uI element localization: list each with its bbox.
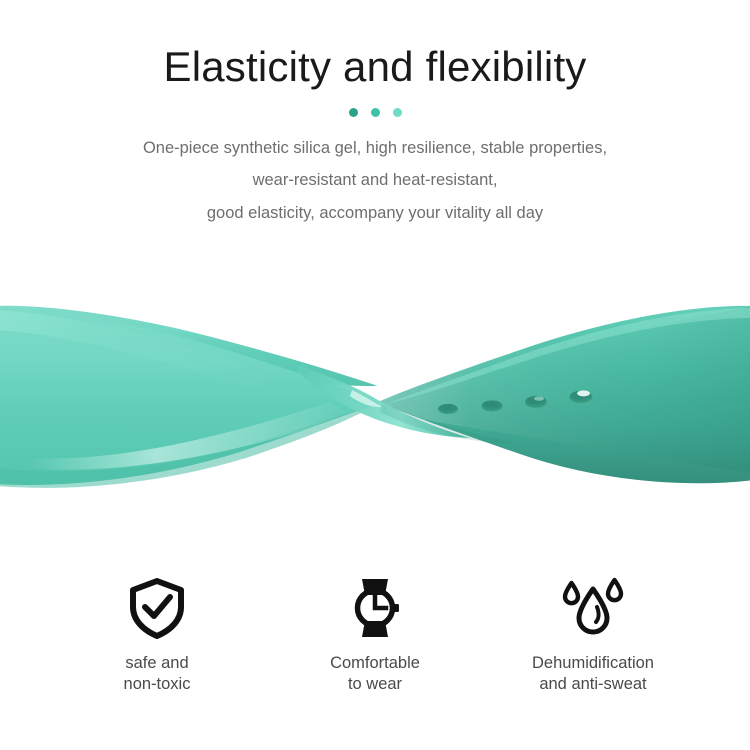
band-hole-1 bbox=[438, 404, 458, 414]
header-section: Elasticity and flexibility One-piece syn… bbox=[0, 0, 750, 229]
subtitle-line-2: wear-resistant and heat-resistant, bbox=[0, 164, 750, 196]
dot-dark bbox=[349, 108, 358, 117]
page-title: Elasticity and flexibility bbox=[0, 44, 750, 90]
product-feature-page: Elasticity and flexibility One-piece syn… bbox=[0, 0, 750, 750]
features-section: safe and non-toxic Comfortable to we bbox=[0, 575, 750, 705]
band-hole-3 bbox=[525, 396, 547, 408]
feature-comfortable-to-wear: Comfortable to wear bbox=[266, 575, 484, 694]
subtitle-line-1: One-piece synthetic silica gel, high res… bbox=[0, 132, 750, 164]
feature-dehumidification: Dehumidification and anti-sweat bbox=[484, 575, 702, 694]
band-hole-2 bbox=[482, 400, 503, 411]
dot-mid bbox=[371, 108, 380, 117]
dot-light bbox=[393, 108, 402, 117]
subtitle-block: One-piece synthetic silica gel, high res… bbox=[0, 132, 750, 229]
feature-safe-non-toxic: safe and non-toxic bbox=[48, 575, 266, 694]
feature-label-dehumidification: Dehumidification and anti-sweat bbox=[532, 653, 654, 694]
feature-label-comfortable-to-wear: Comfortable to wear bbox=[330, 653, 420, 694]
shield-check-icon bbox=[125, 575, 189, 641]
wristwatch-icon bbox=[343, 575, 407, 641]
water-droplets-icon bbox=[561, 575, 625, 641]
product-image bbox=[0, 262, 750, 532]
subtitle-line-3: good elasticity, accompany your vitality… bbox=[0, 197, 750, 229]
separator-dots bbox=[0, 106, 750, 118]
twisted-band-illustration bbox=[0, 262, 750, 532]
feature-label-safe-non-toxic: safe and non-toxic bbox=[124, 653, 191, 694]
